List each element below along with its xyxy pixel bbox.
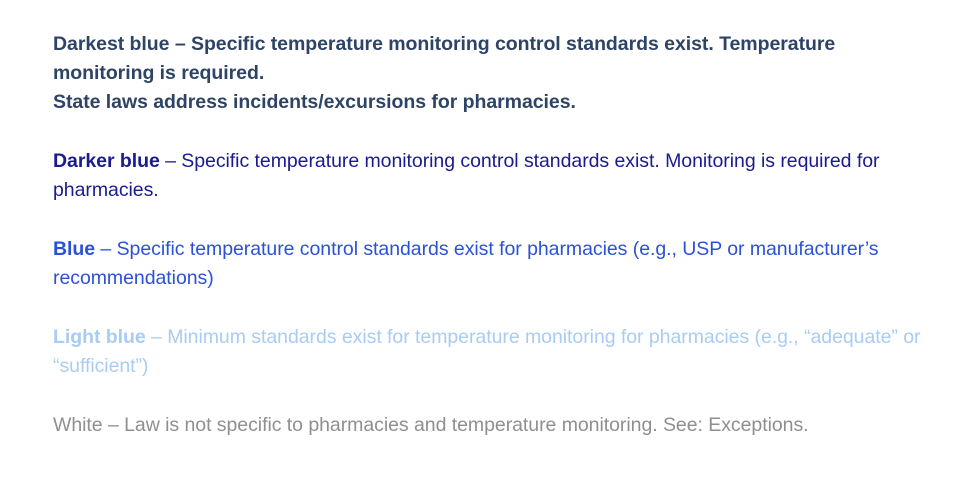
legend-description-white: Law is not specific to pharmacies and te… (124, 414, 808, 436)
legend-swatch-label-darkest-blue: Darkest blue (53, 33, 169, 55)
legend-entry-darker-blue: Darker blue – Specific temperature monit… (53, 147, 941, 205)
legend-description-darkest-blue-line-2: State laws address incidents/excursions … (53, 88, 941, 117)
legend-swatch-label-light-blue: Light blue (53, 326, 146, 348)
legend-separator-blue: – (95, 238, 117, 260)
legend-entry-blue: Blue – Specific temperature control stan… (53, 235, 941, 293)
legend-swatch-label-white: White (53, 414, 103, 436)
legend-entry-light-blue: Light blue – Minimum standards exist for… (53, 323, 941, 381)
legend-entry-white: White – Law is not specific to pharmacie… (53, 411, 941, 440)
legend-separator-light-blue: – (146, 326, 168, 348)
legend-separator-darker-blue: – (160, 150, 182, 172)
legend-sheet: Darkest blue – Specific temperature moni… (0, 0, 977, 483)
legend-swatch-label-darker-blue: Darker blue (53, 150, 160, 172)
legend-description-light-blue: Minimum standards exist for temperature … (53, 326, 920, 377)
legend-separator-white: – (103, 414, 125, 436)
legend-entry-darkest-blue: Darkest blue – Specific temperature moni… (53, 30, 941, 117)
legend-swatch-label-blue: Blue (53, 238, 95, 260)
legend-separator-darkest-blue: – (169, 33, 191, 55)
legend-description-blue: Specific temperature control standards e… (53, 238, 878, 289)
